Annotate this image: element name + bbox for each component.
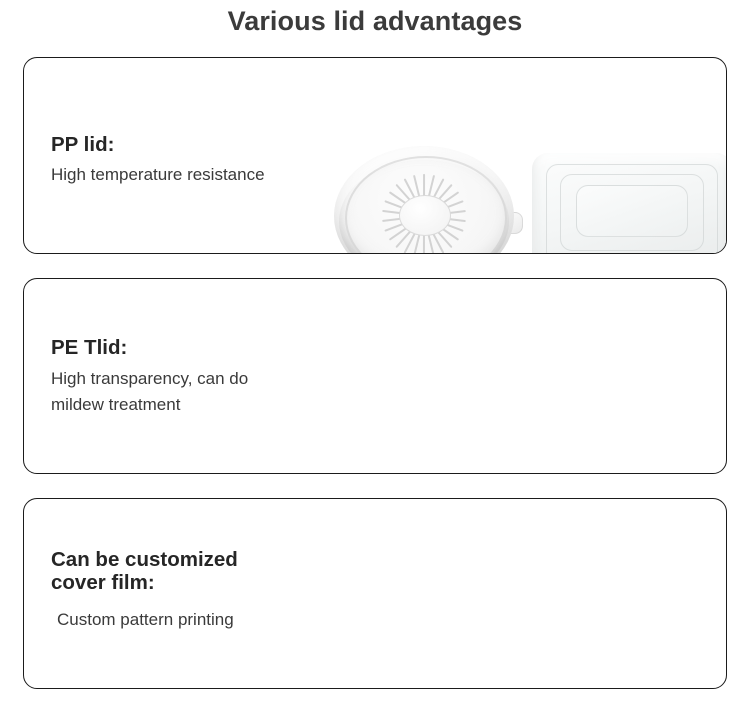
panel-pp-lid: PP lid: High temperature resistance: [23, 57, 727, 254]
panel-cover-film-description: Custom pattern printing: [57, 607, 238, 633]
panel-cover-film: Can be customized cover film: Custom pat…: [23, 498, 727, 689]
rectangular-pp-lid-image: [532, 153, 727, 254]
rect-lid-rib-inner: [576, 185, 688, 237]
panel-cover-film-text-block: Can be customized cover film: Custom pat…: [51, 549, 238, 633]
panel-pe-lid: PE Tlid: High transparency, can do milde…: [23, 278, 727, 474]
panel-cover-film-heading: Can be customized cover film:: [51, 549, 238, 595]
panel-pp-lid-text-block: PP lid: High temperature resistance: [51, 134, 265, 188]
panel-pe-lid-text-block: PE Tlid: High transparency, can do milde…: [51, 337, 248, 419]
page-title: Various lid advantages: [0, 6, 750, 37]
panel-pe-lid-heading: PE Tlid:: [51, 337, 248, 360]
panel-pp-lid-description: High temperature resistance: [51, 162, 265, 188]
panel-pp-lid-heading: PP lid:: [51, 134, 265, 157]
panel-pe-lid-description: High transparency, can do mildew treatme…: [51, 366, 248, 419]
round-ribbed-pp-lid-image: [334, 146, 514, 254]
